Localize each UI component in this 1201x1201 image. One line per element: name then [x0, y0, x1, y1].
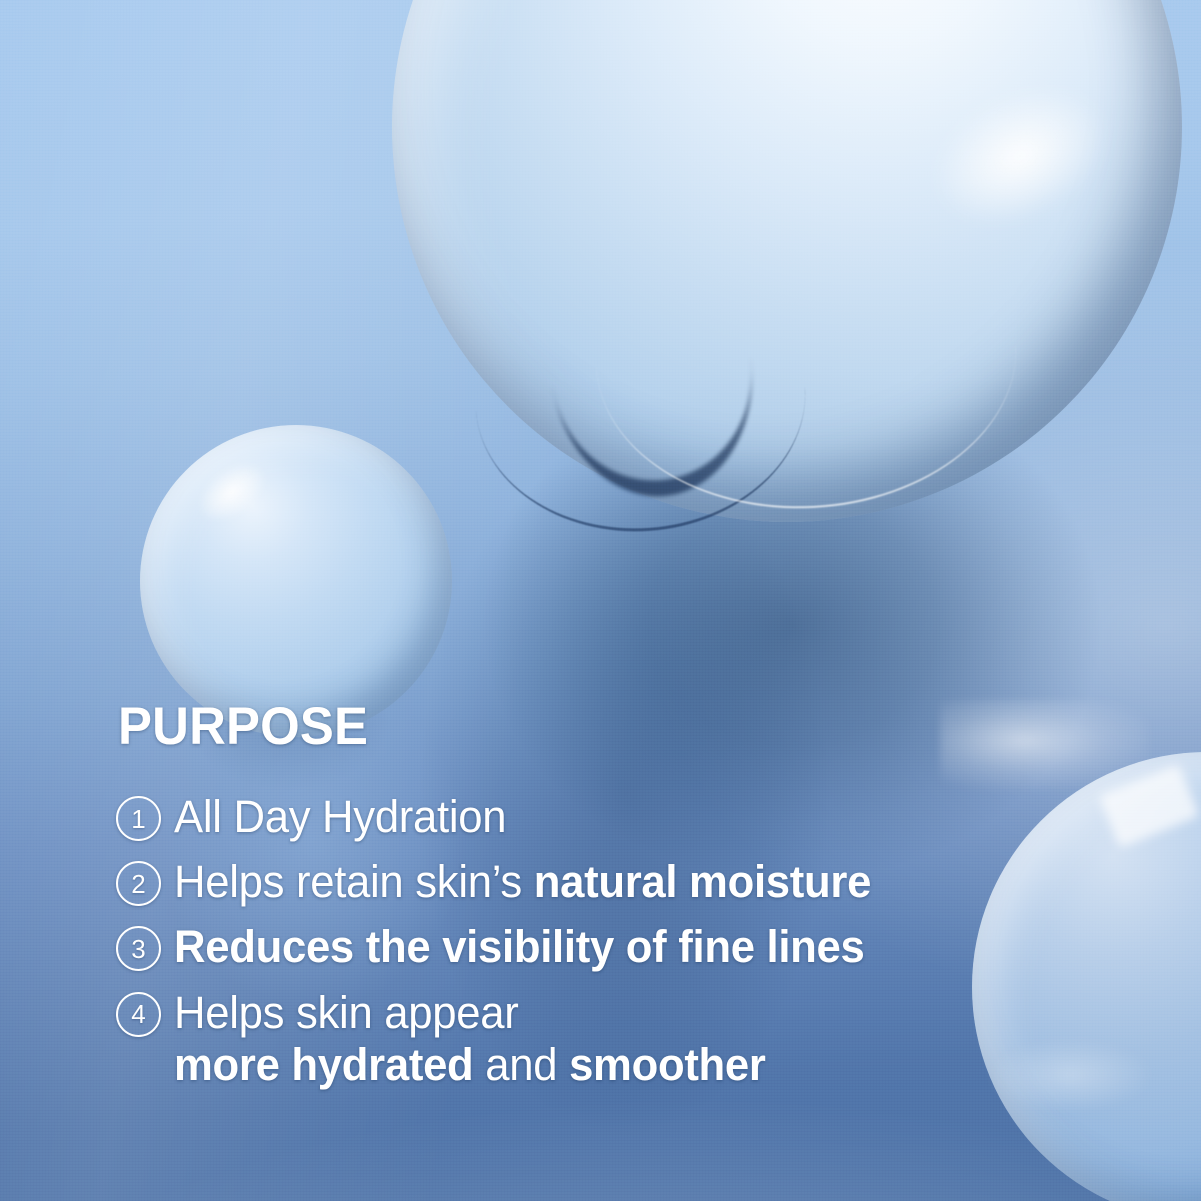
small-left-droplet-highlight	[190, 453, 274, 531]
benefit-number-badge: 1	[116, 796, 161, 841]
large-droplet-caustic-line	[476, 387, 814, 543]
benefit-text-emphasis: smoother	[569, 1039, 766, 1090]
page-title: PURPOSE	[118, 700, 1095, 753]
benefit-item: 2Helps retain skin’s natural moisture	[116, 856, 1136, 908]
large-top-droplet	[392, 0, 1182, 522]
benefit-text-emphasis: natural moisture	[534, 856, 871, 907]
benefit-number-badge: 2	[116, 861, 161, 906]
benefit-text: Reduces the visibility of fine lines	[174, 921, 865, 973]
benefit-text: All Day Hydration	[174, 791, 506, 843]
benefit-text-emphasis: more hydrated	[174, 1039, 473, 1090]
benefit-number-badge: 4	[116, 992, 161, 1037]
benefit-text-plain: All Day Hydration	[174, 791, 506, 842]
small-left-droplet	[140, 425, 452, 737]
benefit-item: 1All Day Hydration	[116, 791, 1136, 843]
benefit-text-emphasis: Reduces the visibility of fine lines	[174, 921, 865, 972]
infographic-canvas: PURPOSE 1All Day Hydration2Helps retain …	[0, 0, 1201, 1201]
benefit-text-plain: and	[473, 1039, 569, 1090]
benefit-item: 3Reduces the visibility of fine lines	[116, 921, 1136, 973]
benefits-block: PURPOSE 1All Day Hydration2Helps retain …	[116, 700, 1136, 1104]
benefits-list: 1All Day Hydration2Helps retain skin’s n…	[116, 791, 1136, 1091]
benefit-number-badge: 3	[116, 926, 161, 971]
large-droplet-dark-caustic	[552, 357, 768, 510]
benefit-text-plain: Helps retain skin’s	[174, 856, 534, 907]
benefit-text: Helps retain skin’s natural moisture	[174, 856, 871, 908]
large-droplet-light-caustic	[596, 345, 1023, 519]
large-top-droplet-rim	[392, 0, 1182, 522]
benefit-text: Helps skin appearmore hydrated and smoot…	[174, 987, 766, 1091]
benefit-text-plain: Helps skin appear	[174, 987, 518, 1038]
large-droplet-specular-glint	[913, 63, 1127, 250]
benefit-item: 4Helps skin appearmore hydrated and smoo…	[116, 987, 1136, 1091]
